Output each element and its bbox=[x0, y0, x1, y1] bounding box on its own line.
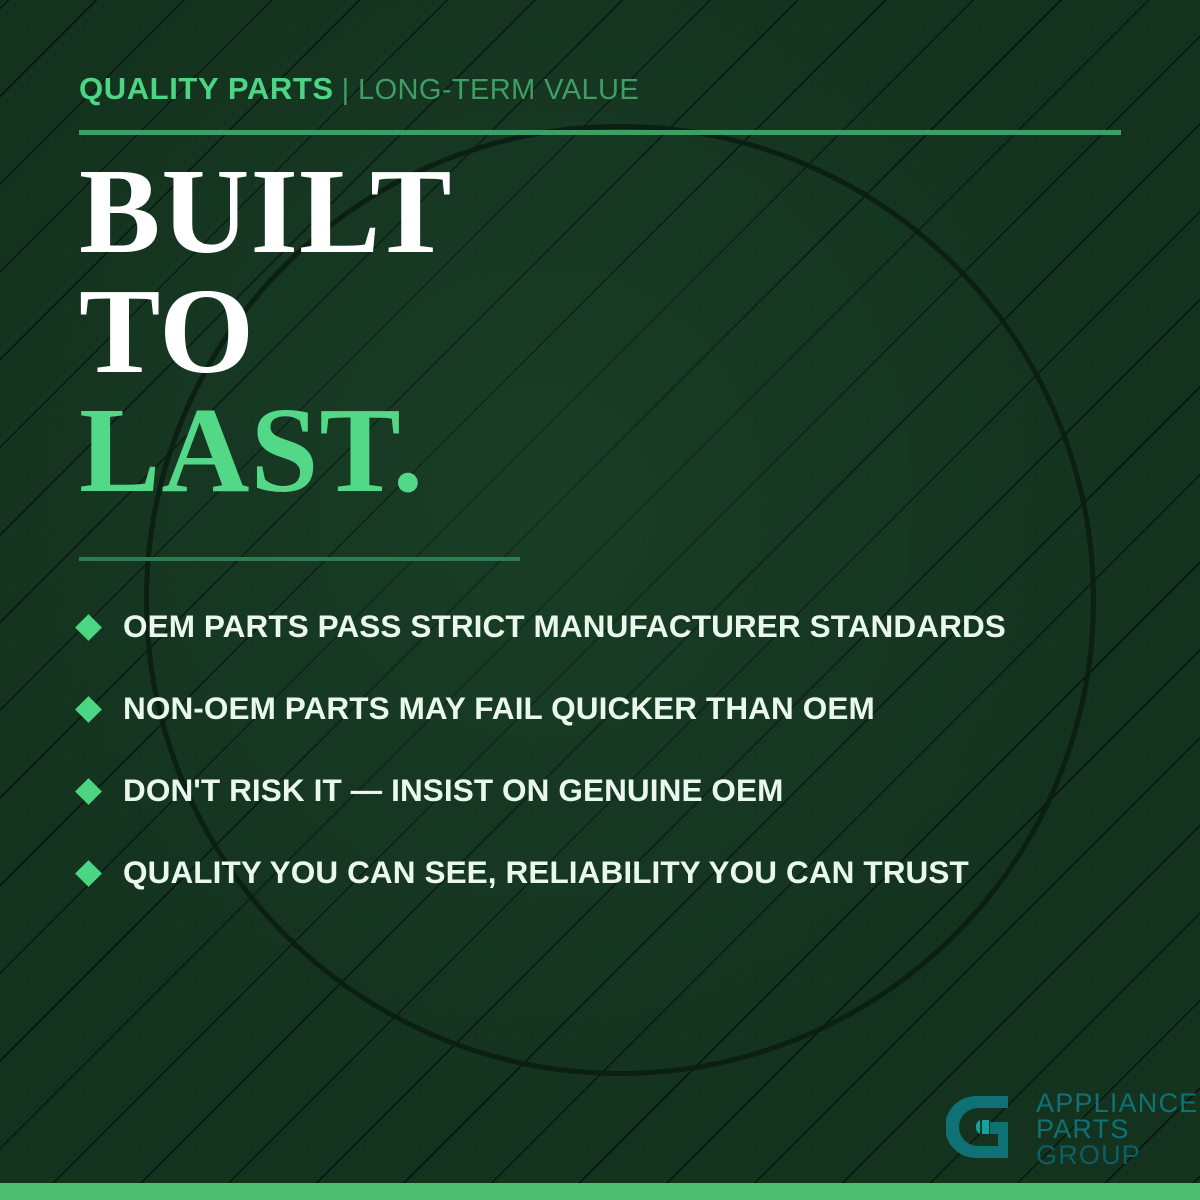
brand-logo: APPLIANCE PARTS GROUP bbox=[946, 1088, 1198, 1169]
poster-canvas: QUALITY PARTS| LONG-TERM VALUE BUILT TO … bbox=[0, 0, 1200, 1200]
brand-logo-line-2: PARTS bbox=[1036, 1116, 1198, 1142]
list-item: QUALITY YOU CAN SEE, RELIABILITY YOU CAN… bbox=[79, 832, 1139, 914]
list-item-label: OEM PARTS PASS STRICT MANUFACTURER STAND… bbox=[123, 611, 1006, 643]
headline-divider-rule bbox=[79, 557, 520, 561]
page-title: BUILT TO LAST. bbox=[79, 152, 453, 511]
headline-line-1: BUILT bbox=[79, 152, 453, 272]
brand-logo-wordmark: APPLIANCE PARTS GROUP bbox=[1036, 1088, 1198, 1169]
brand-logo-line-1: APPLIANCE bbox=[1036, 1090, 1198, 1116]
brand-logo-line-3: GROUP bbox=[1036, 1142, 1198, 1168]
eyebrow-strong-text: QUALITY PARTS bbox=[79, 71, 334, 106]
eyebrow: QUALITY PARTS| LONG-TERM VALUE bbox=[79, 73, 639, 105]
list-item-label: DON'T RISK IT — INSIST ON GENUINE OEM bbox=[123, 775, 783, 807]
bottom-accent-bar bbox=[0, 1183, 1200, 1200]
list-item: NON-OEM PARTS MAY FAIL QUICKER THAN OEM bbox=[79, 668, 1139, 750]
diamond-icon bbox=[75, 614, 102, 641]
eyebrow-light-text: | LONG-TERM VALUE bbox=[342, 74, 639, 106]
g-mark-icon bbox=[946, 1088, 1024, 1166]
list-item: DON'T RISK IT — INSIST ON GENUINE OEM bbox=[79, 750, 1139, 832]
diamond-icon bbox=[75, 860, 102, 887]
list-item-label: NON-OEM PARTS MAY FAIL QUICKER THAN OEM bbox=[123, 693, 875, 725]
benefits-list: OEM PARTS PASS STRICT MANUFACTURER STAND… bbox=[79, 586, 1139, 914]
list-item: OEM PARTS PASS STRICT MANUFACTURER STAND… bbox=[79, 586, 1139, 668]
header-divider-rule bbox=[79, 130, 1121, 135]
diamond-icon bbox=[75, 778, 102, 805]
diamond-icon bbox=[75, 696, 102, 723]
poster-content: QUALITY PARTS| LONG-TERM VALUE BUILT TO … bbox=[0, 0, 1200, 1200]
headline-line-3: LAST. bbox=[79, 391, 453, 511]
list-item-label: QUALITY YOU CAN SEE, RELIABILITY YOU CAN… bbox=[123, 857, 969, 889]
headline-line-2: TO bbox=[79, 272, 453, 392]
